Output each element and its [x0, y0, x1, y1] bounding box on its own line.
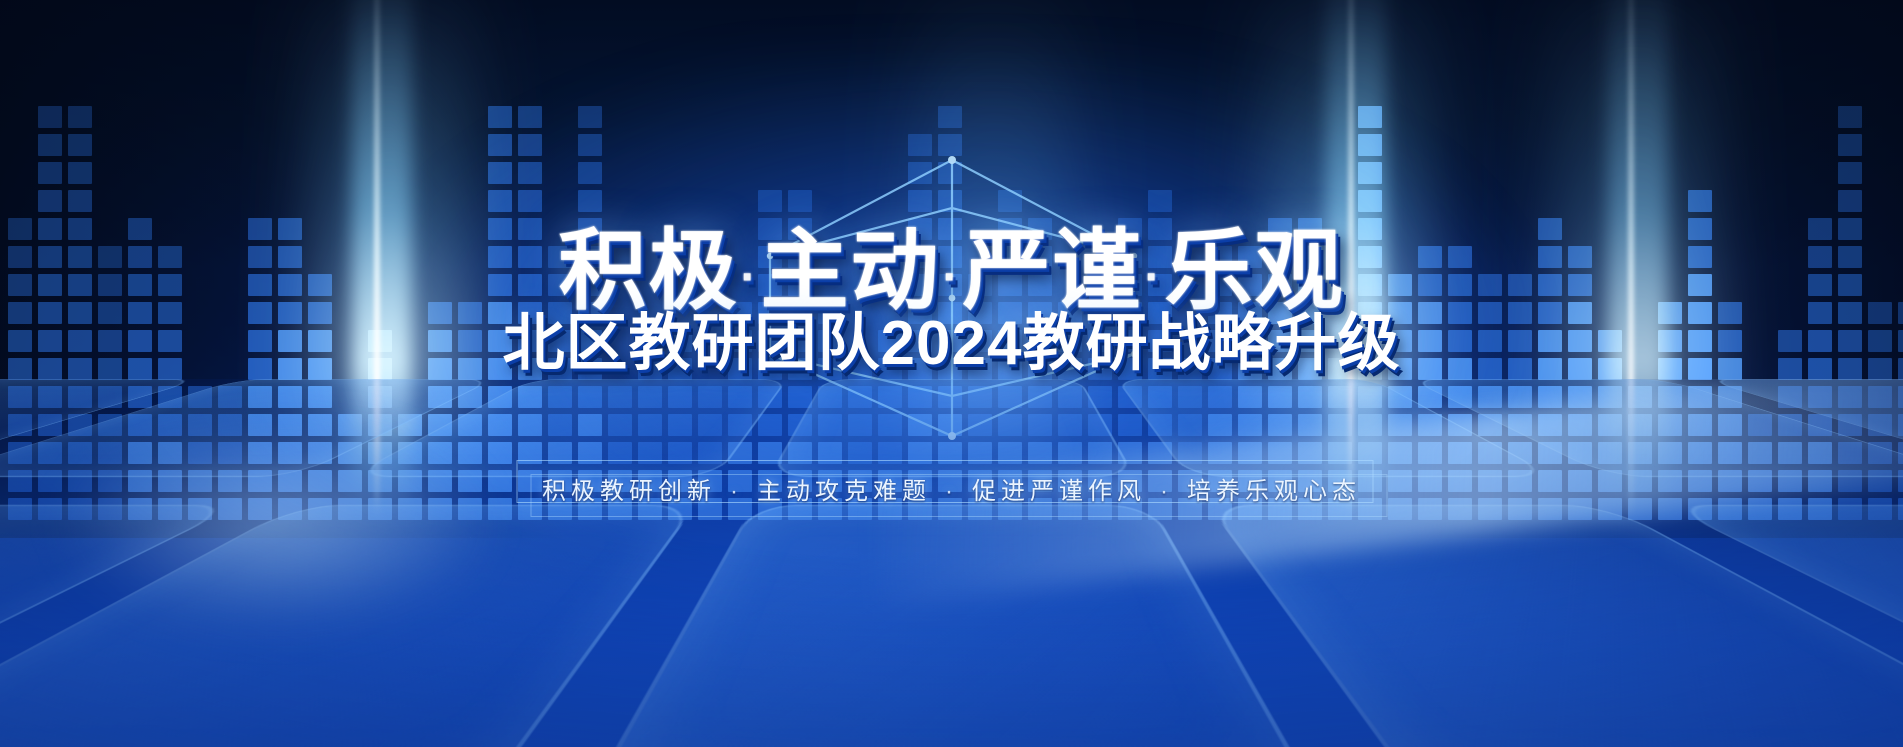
tagline-text: 积极教研创新·主动攻克难题·促进严谨作风·培养乐观心态: [542, 471, 1361, 506]
tagline-item: 主动攻克难题: [757, 478, 931, 505]
tagline-separator: ·: [716, 478, 757, 505]
tagline-separator: ·: [931, 478, 972, 505]
title-segment: 乐观: [1164, 221, 1344, 320]
tagline-item: 培养乐观心态: [1187, 478, 1361, 505]
tagline-frame: 积极教研创新·主动攻克难题·促进严谨作风·培养乐观心态: [516, 460, 1387, 517]
title-segment: 主动: [760, 221, 940, 320]
title-separator-dot: ·: [1143, 251, 1165, 304]
banner-main-title: 积极·主动·严谨·乐观: [0, 227, 1903, 315]
banner-canvas: 积极·主动·严谨·乐观 北区教研团队2024教研战略升级 积极教研创新·主动攻克…: [0, 0, 1903, 747]
tagline-item: 积极教研创新: [542, 478, 716, 505]
title-segment: 严谨: [962, 221, 1142, 320]
title-separator-dot: ·: [941, 251, 963, 304]
title-separator-dot: ·: [739, 251, 761, 304]
banner-content: 积极·主动·严谨·乐观 北区教研团队2024教研战略升级 积极教研创新·主动攻克…: [0, 0, 1903, 747]
title-segment: 积极: [558, 221, 738, 320]
banner-subtitle: 北区教研团队2024教研战略升级: [0, 313, 1903, 375]
tagline-separator: ·: [1146, 478, 1187, 505]
tagline-item: 促进严谨作风: [972, 478, 1146, 505]
